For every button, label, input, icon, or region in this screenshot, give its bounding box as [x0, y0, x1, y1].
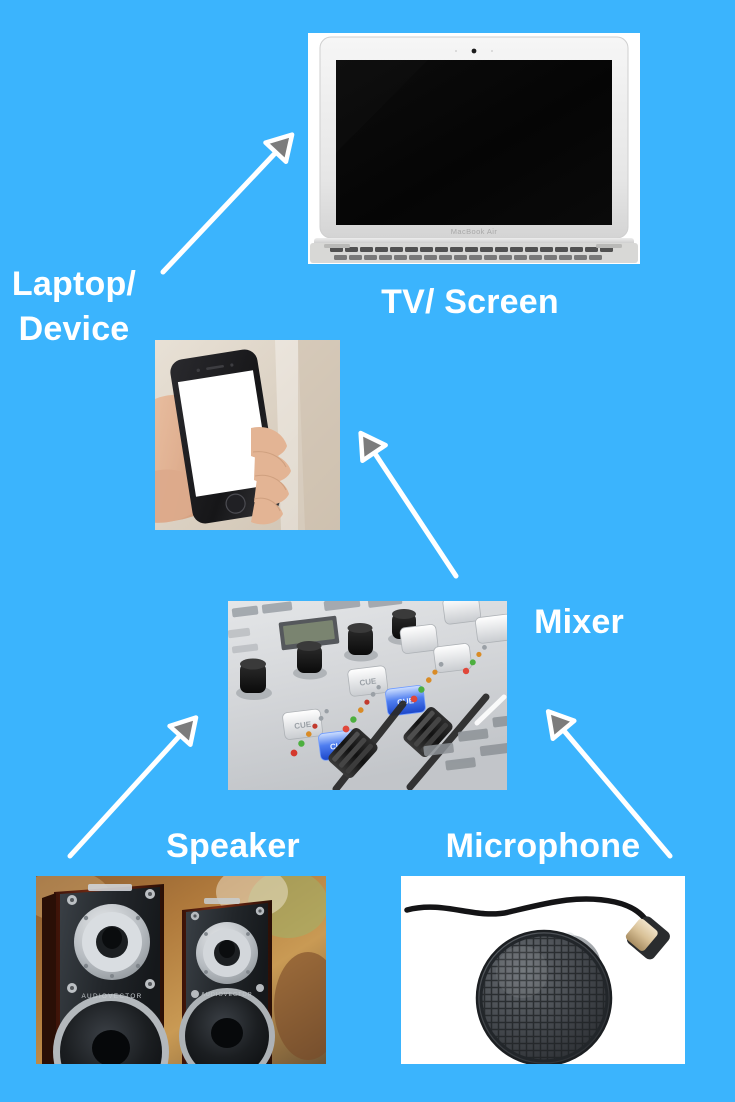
diagram-canvas: MacBook Air: [0, 0, 735, 1102]
speaker-photo: AUDIOVECTOR: [36, 876, 326, 1064]
svg-text:AUDIOVECTOR: AUDIOVECTOR: [201, 992, 253, 998]
label-microphone: Microphone: [400, 824, 686, 869]
label-mixer: Mixer: [498, 600, 660, 645]
laptop-photo: MacBook Air: [308, 33, 640, 264]
svg-text:MacBook Air: MacBook Air: [451, 227, 498, 236]
mixer-photo: CUE CUE CUE CUE: [228, 601, 507, 790]
smartphone-photo: [155, 340, 340, 530]
label-tv-screen: TV/ Screen: [355, 280, 585, 325]
label-speaker: Speaker: [140, 824, 326, 869]
label-laptop-device: Laptop/ Device: [0, 262, 148, 352]
svg-text:AUDIOVECTOR: AUDIOVECTOR: [81, 993, 142, 1000]
microphone-photo: [401, 876, 685, 1064]
